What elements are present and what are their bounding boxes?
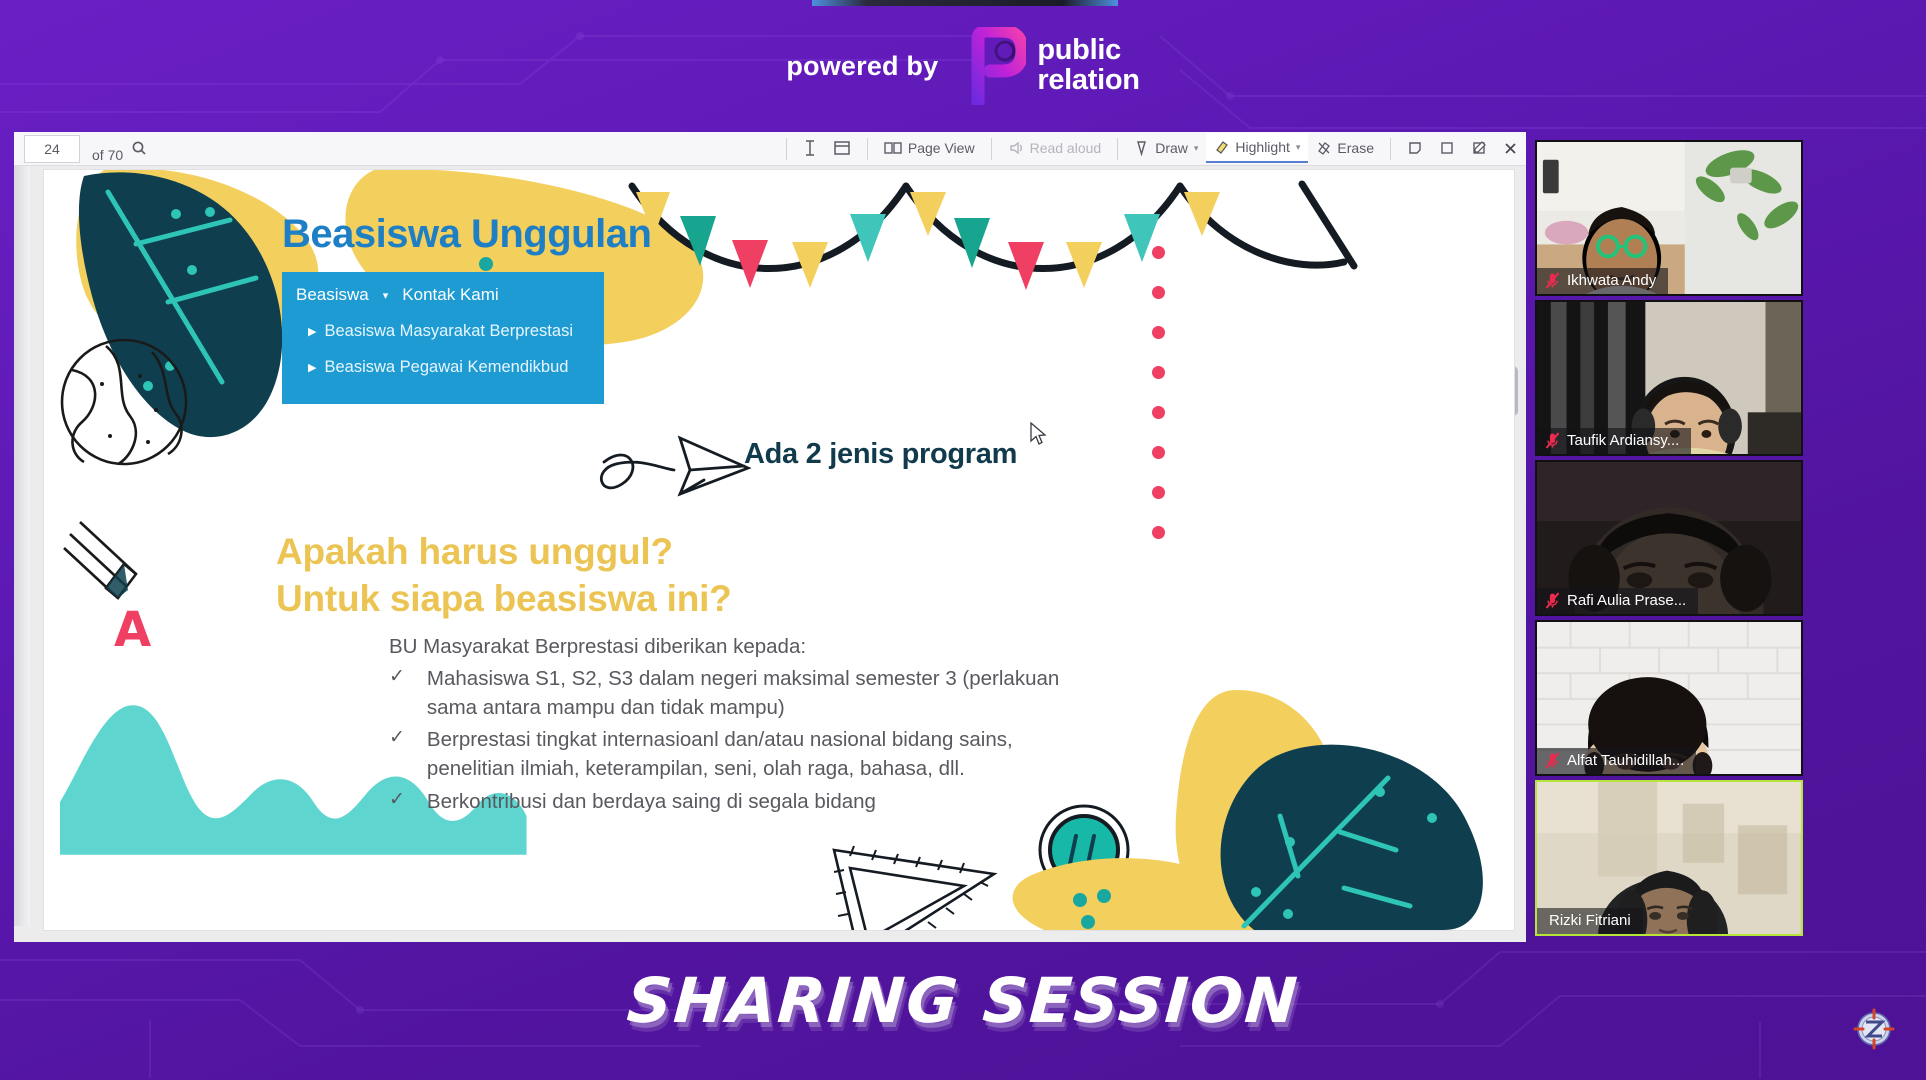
red-dot — [1152, 526, 1165, 539]
public-relation-p-mark-icon — [964, 27, 1026, 105]
participant-tile[interactable]: Rafi Aulia Prase... — [1535, 460, 1803, 616]
participant-name-chip: Ikhwata Andy — [1537, 268, 1668, 294]
toolbar-draw-label: Draw — [1155, 140, 1188, 156]
slide-question-block: Apakah harus unggul? Untuk siapa beasisw… — [276, 528, 732, 623]
toolbar-highlight-label: Highlight — [1235, 139, 1289, 155]
toolbar-save-button[interactable] — [1431, 133, 1463, 163]
red-dot — [1152, 446, 1165, 459]
powered-by-label: powered by — [786, 51, 938, 82]
toolbar-erase-label: Erase — [1337, 140, 1374, 156]
add-notes-icon — [1407, 140, 1423, 156]
sticky-note-icon — [833, 140, 851, 156]
slide-bullet: ✓ Berprestasi tingkat internasioanl dan/… — [389, 725, 1089, 783]
public-relation-wordmark: public relation — [1037, 36, 1139, 96]
save-icon — [1439, 140, 1455, 156]
bottom-banner: SHARING SESSION — [0, 942, 1926, 1080]
mic-muted-icon — [1545, 272, 1560, 289]
toolbar-highlight-button[interactable]: Highlight ▾ — [1206, 133, 1308, 163]
letter-a-doodle: A — [114, 602, 151, 658]
red-dot — [1152, 246, 1165, 259]
participant-name: Ikhwata Andy — [1567, 272, 1656, 289]
edit-icon — [1471, 140, 1487, 156]
participant-name-chip: Taufik Ardiansy... — [1537, 428, 1691, 454]
toolbar-divider — [1117, 138, 1118, 160]
highlighter-icon — [1214, 139, 1229, 155]
search-icon — [131, 140, 147, 156]
slide-bullet-text: Berprestasi tingkat internasioanl dan/at… — [427, 725, 1089, 783]
pencil-icon — [64, 522, 136, 598]
slide-question-line: Apakah harus unggul? — [276, 528, 732, 575]
magnifier-icon — [1040, 806, 1162, 914]
red-dot — [1152, 486, 1165, 499]
eraser-icon — [1316, 140, 1331, 156]
menu-entry: ▶ Beasiswa Masyarakat Berprestasi — [282, 322, 604, 341]
leaf-shape — [79, 172, 282, 437]
page-view-icon — [884, 141, 902, 155]
slide-body-block: BU Masyarakat Berprestasi diberikan kepa… — [389, 632, 1089, 816]
slide-bullet: ✓ Berkontribusi dan berdaya saing di seg… — [389, 787, 1089, 816]
red-dot-column — [1152, 246, 1165, 566]
menu-entry-label: Beasiswa Masyarakat Berprestasi — [324, 322, 573, 341]
mic-muted-icon — [1545, 752, 1560, 769]
participant-name: Rizki Fitriani — [1549, 912, 1631, 929]
triangle-right-icon: ▶ — [308, 325, 316, 338]
slide-bullet-text: Berkontribusi dan berdaya saing di segal… — [427, 787, 1089, 816]
institution-seal-logo — [1853, 1008, 1895, 1050]
mouse-cursor — [1029, 422, 1047, 446]
toolbar-divider — [991, 138, 992, 160]
menu-tab-beasiswa: Beasiswa — [296, 285, 369, 305]
document-toolbar[interactable]: 24 of 70 Page Vie — [14, 132, 1526, 166]
toolbar-read-aloud-button[interactable]: Read aloud — [1000, 133, 1110, 163]
slide-body-lead: BU Masyarakat Berprestasi diberikan kepa… — [389, 632, 1089, 661]
participant-name-chip: Rizki Fitriani — [1537, 908, 1643, 934]
logo-line-1: public — [1037, 36, 1139, 66]
logo-line-2: relation — [1037, 66, 1139, 96]
toolbar-edit-button[interactable] — [1463, 133, 1495, 163]
participant-name: Rafi Aulia Prase... — [1567, 592, 1686, 609]
red-dot — [1152, 286, 1165, 299]
slide-decorations — [44, 170, 1514, 930]
close-icon — [1503, 141, 1518, 156]
slide-scroll-area[interactable]: A Beasiswa Unggulan Beasiswa ▾ Kontak Ka… — [14, 166, 1526, 942]
participant-name-chip: Rafi Aulia Prase... — [1537, 588, 1698, 614]
slide-menu-card: Beasiswa ▾ Kontak Kami ▶ Beasiswa Masyar… — [282, 272, 604, 404]
check-icon: ✓ — [389, 787, 405, 814]
mic-muted-icon — [1545, 432, 1560, 449]
text-select-button[interactable] — [795, 133, 825, 163]
public-relation-logo: public relation — [964, 27, 1139, 105]
toolbar-divider — [1390, 138, 1391, 160]
participant-tile[interactable]: Alfat Tauhidillah... — [1535, 620, 1803, 776]
globe-doodle-icon — [62, 340, 186, 464]
menu-entry: ▶ Beasiswa Pegawai Kemendikbud — [282, 358, 604, 377]
chevron-down-icon[interactable]: ▾ — [1296, 142, 1301, 153]
read-aloud-icon — [1008, 140, 1024, 156]
participant-tile-active-speaker[interactable]: Rizki Fitriani — [1535, 780, 1803, 936]
check-icon: ✓ — [389, 725, 405, 752]
add-note-button[interactable] — [825, 133, 859, 163]
chevron-down-icon[interactable]: ▾ — [1194, 143, 1199, 154]
mic-muted-icon — [1545, 592, 1560, 609]
red-dot — [1152, 406, 1165, 419]
slide-bullet-text: Mahasiswa S1, S2, S3 dalam negeri maksim… — [427, 664, 1089, 722]
slide-question-line: Untuk siapa beasiswa ini? — [276, 575, 732, 622]
menu-entry-label: Beasiswa Pegawai Kemendikbud — [324, 358, 568, 377]
toolbar-read-aloud-label: Read aloud — [1030, 140, 1102, 156]
toolbar-page-view-button[interactable]: Page View — [876, 133, 983, 163]
cursor-text-icon — [803, 139, 817, 157]
paper-plane-icon — [601, 438, 748, 494]
participant-rail: Ikhwata Andy — [1535, 140, 1803, 940]
leaf-shape — [1221, 745, 1483, 930]
toolbar-add-notes-button[interactable] — [1399, 133, 1431, 163]
participant-name-chip: Alfat Tauhidillah... — [1537, 748, 1696, 774]
check-icon: ✓ — [389, 664, 405, 691]
page-number-input[interactable]: 24 — [24, 135, 80, 163]
toolbar-divider — [786, 138, 787, 160]
chevron-down-icon: ▾ — [383, 289, 389, 302]
powered-by-bar: powered by public relation — [0, 0, 1926, 132]
banner-title: SHARING SESSION — [0, 964, 1926, 1037]
participant-tile[interactable]: Ikhwata Andy — [1535, 140, 1803, 296]
shared-document-window[interactable]: 24 of 70 Page Vie — [14, 132, 1526, 942]
page-total-label: of 70 — [92, 147, 123, 163]
red-dot — [1152, 326, 1165, 339]
red-dot — [1152, 366, 1165, 379]
search-button[interactable] — [123, 133, 155, 163]
toolbar-draw-button[interactable]: Draw ▾ — [1126, 133, 1206, 163]
pen-icon — [1134, 140, 1149, 156]
page-left-gutter — [14, 166, 30, 926]
participant-name: Taufik Ardiansy... — [1567, 432, 1679, 449]
triangle-ruler-icon — [834, 846, 994, 930]
toolbar-close-button[interactable] — [1495, 133, 1526, 163]
bunting-garland-icon — [632, 184, 1354, 290]
triangle-right-icon: ▶ — [308, 361, 316, 374]
participant-name: Alfat Tauhidillah... — [1567, 752, 1684, 769]
presentation-slide: A Beasiswa Unggulan Beasiswa ▾ Kontak Ka… — [44, 170, 1514, 930]
toolbar-page-view-label: Page View — [908, 140, 975, 156]
toolbar-divider — [867, 138, 868, 160]
participant-tile[interactable]: Taufik Ardiansy... — [1535, 300, 1803, 456]
toolbar-erase-button[interactable]: Erase — [1308, 133, 1382, 163]
slide-callout-text: Ada 2 jenis program — [744, 438, 1017, 471]
menu-card-topbar: Beasiswa ▾ Kontak Kami — [282, 272, 604, 305]
menu-link-kontak-kami: Kontak Kami — [402, 285, 498, 305]
slide-title: Beasiswa Unggulan — [282, 212, 651, 257]
slide-bullet: ✓ Mahasiswa S1, S2, S3 dalam negeri maks… — [389, 664, 1089, 722]
